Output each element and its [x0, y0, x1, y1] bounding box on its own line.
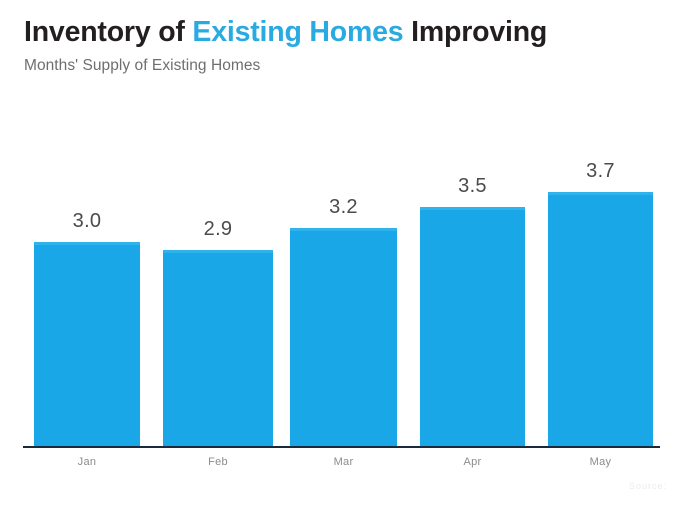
- bar-group: 3.5Apr: [420, 0, 525, 505]
- bar-value-label: 3.2: [290, 196, 397, 219]
- bar[interactable]: [290, 228, 397, 446]
- bar-group: 2.9Feb: [163, 0, 273, 505]
- x-axis-category-label: May: [548, 456, 653, 468]
- x-axis-category-label: Mar: [290, 456, 397, 468]
- bar[interactable]: [548, 192, 653, 446]
- bar-value-label: 3.0: [34, 210, 140, 233]
- bar[interactable]: [34, 242, 140, 446]
- bar-value-label: 3.7: [548, 160, 653, 183]
- bar[interactable]: [420, 207, 525, 446]
- bar-group: 3.0Jan: [34, 0, 140, 505]
- bar-group: 3.2Mar: [290, 0, 397, 505]
- x-axis-category-label: Feb: [163, 456, 273, 468]
- chart-canvas: Inventory of Existing Homes Improving Mo…: [0, 0, 683, 505]
- bar-value-label: 3.5: [420, 175, 525, 198]
- bar-group: 3.7May: [548, 0, 653, 505]
- watermark: Source:: [629, 481, 667, 491]
- bar-chart-plot: 3.0Jan2.9Feb3.2Mar3.5Apr3.7May: [0, 0, 683, 505]
- x-axis-category-label: Apr: [420, 456, 525, 468]
- bar-value-label: 2.9: [163, 218, 273, 241]
- x-axis-category-label: Jan: [34, 456, 140, 468]
- bar[interactable]: [163, 250, 273, 446]
